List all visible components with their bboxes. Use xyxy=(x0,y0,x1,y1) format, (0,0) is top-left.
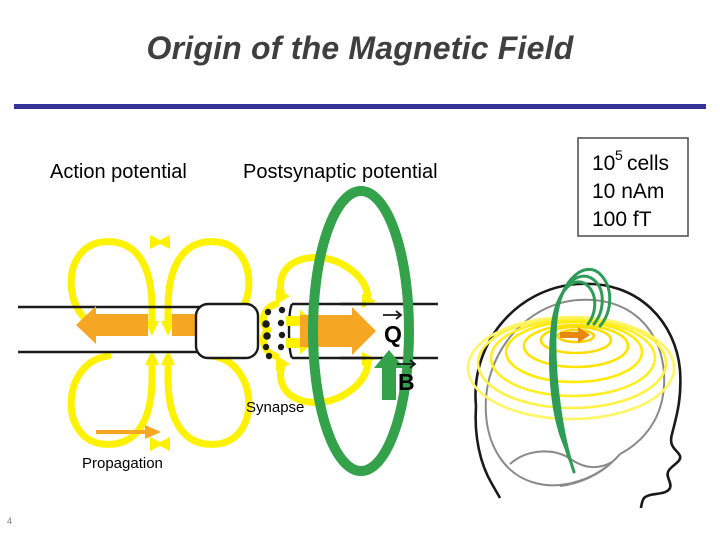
brain-lower-contour xyxy=(486,414,620,485)
q-vector-label: Q xyxy=(383,311,402,347)
info-line1-exponent: 5 xyxy=(615,147,623,163)
label-synapse: Synapse xyxy=(246,399,304,416)
page-title: Origin of the Magnetic Field xyxy=(0,30,720,67)
figure-diagram: Action potential Postsynaptic potential xyxy=(0,118,720,508)
slide-canvas: Origin of the Magnetic Field Action pote… xyxy=(0,0,720,540)
label-action-potential: Action potential xyxy=(50,161,187,183)
info-line2: 10 nAm xyxy=(592,180,664,203)
label-propagation: Propagation xyxy=(82,455,163,472)
info-line3: 100 fT xyxy=(592,208,652,231)
q-vector-letter: Q xyxy=(384,321,402,347)
info-line1-base: 10 xyxy=(592,152,615,175)
label-postsynaptic-potential: Postsynaptic potential xyxy=(243,161,438,183)
temporal-lobe-contour xyxy=(510,451,612,467)
title-divider xyxy=(14,104,706,109)
head-model-panel xyxy=(468,269,680,508)
b-vector-letter: B xyxy=(398,369,415,395)
page-number: 4 xyxy=(7,516,12,526)
postsynaptic-potential-panel: Synapse Q xyxy=(196,191,438,471)
yellow-field-arrowheads-action xyxy=(145,235,175,451)
info-line1-unit: cells xyxy=(627,152,669,175)
q-vector-overarrow-icon xyxy=(383,311,401,319)
presynaptic-terminal xyxy=(196,304,258,358)
info-box: 10 5 cells 10 nAm 100 fT xyxy=(578,138,688,236)
